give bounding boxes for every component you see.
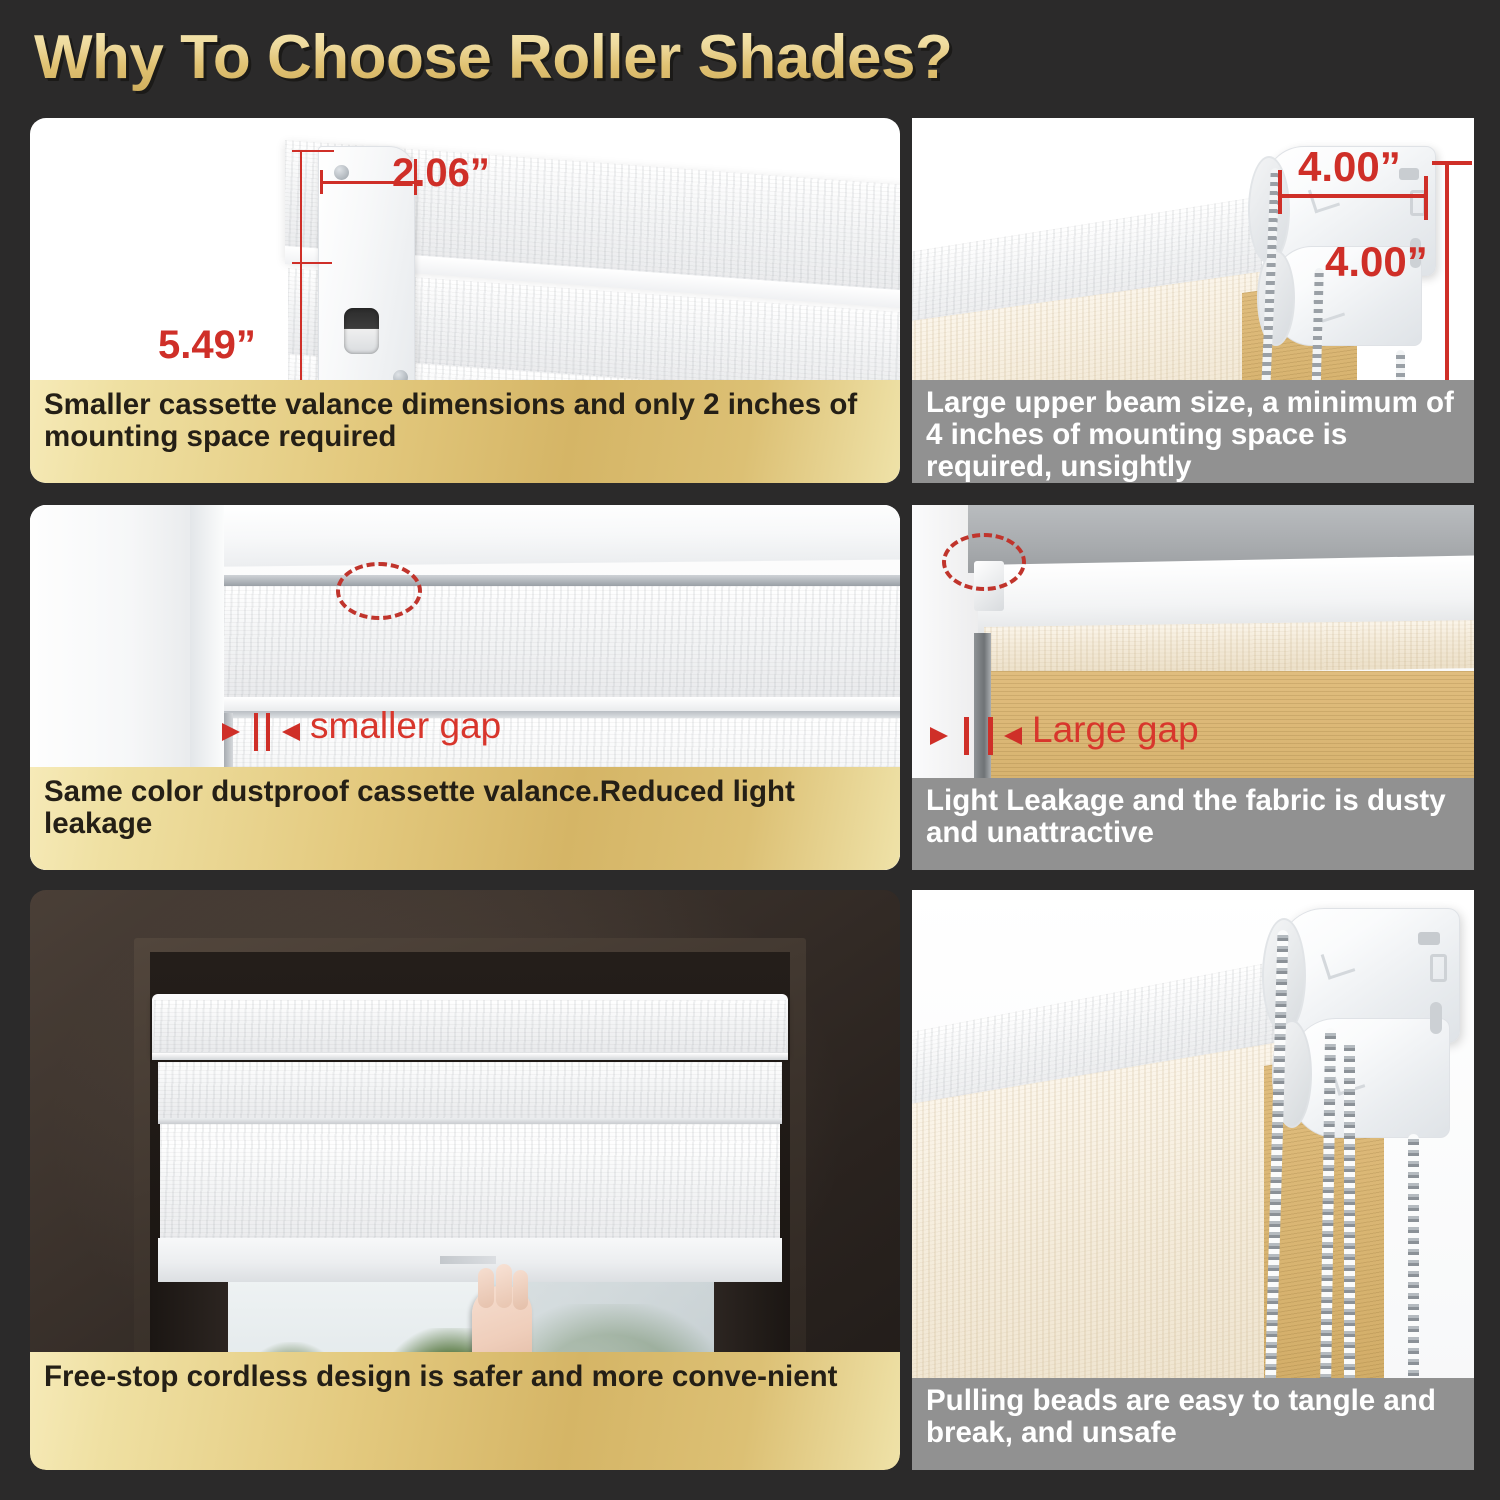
large-gap-arrow-left-icon [1004, 727, 1022, 745]
caption-cordless-design: Free-stop cordless design is safer and m… [30, 1352, 900, 1470]
dim-height-ext-upper [292, 262, 332, 264]
beam-dim-height-tick-top [1432, 161, 1472, 165]
caption-cassette-dimensions: Smaller cassette valance dimensions and … [30, 380, 900, 483]
beam-dim-height-line [1445, 161, 1449, 393]
dim-width-tick-left [320, 170, 323, 194]
cassette-headrail-face [154, 1000, 786, 1052]
gap-tick-b [266, 713, 270, 751]
pulling-bracket-lower [1290, 1018, 1450, 1138]
caption-large-gap: Light Leakage and the fabric is dusty an… [912, 778, 1474, 870]
roll-band [158, 1062, 782, 1120]
gap-arrow-right-icon-left [222, 723, 240, 741]
beam-dim-width-tick-left [1278, 170, 1282, 214]
panel-cordless-design: Free-stop cordless design is safer and m… [30, 890, 900, 1470]
panel-pulling-beads: Pulling beads are easy to tangle and bre… [912, 890, 1474, 1470]
large-gap-label: Large gap [1032, 709, 1199, 751]
pulling-bracket-slot-3 [1430, 1002, 1442, 1034]
gap-tick-a [254, 713, 258, 751]
bracket-slot-1 [1399, 168, 1419, 180]
beam-dim-width-label: 4.00” [1298, 143, 1401, 191]
gap-arrow-left-icon-right [282, 723, 300, 741]
hand-finger-2 [496, 1264, 512, 1308]
pulling-bracket-slot-1 [1418, 932, 1440, 945]
dim-height-tick-top [292, 150, 334, 152]
panel-large-upper-beam: 4.00” 4.00” Large upper beam size, a min… [912, 118, 1474, 483]
bottom-rail-logo [440, 1256, 496, 1264]
smaller-gap-label: smaller gap [310, 705, 501, 747]
panel-cassette-dimensions: 5.49” 2.06” Smaller cassette valance dim… [30, 118, 900, 483]
cap-clutch-window [344, 308, 379, 354]
panel-smaller-gap: smaller gap Same color dustproof cassett… [30, 505, 900, 870]
beam-dim-width-tick-right [1424, 176, 1428, 220]
cap-screw-top [334, 165, 349, 180]
dim-width-label: 2.06” [392, 151, 490, 196]
page-title: Why To Choose Roller Shades? [34, 22, 952, 93]
dim-height-label: 5.49” [158, 323, 256, 368]
large-gap-tick-a [964, 717, 969, 755]
hand-finger-3 [513, 1270, 528, 1310]
hand-finger-1 [478, 1268, 494, 1308]
caption-pulling-beads: Pulling beads are easy to tangle and bre… [912, 1378, 1474, 1470]
shade-fabric-main-2 [160, 1140, 780, 1250]
beam-dim-width-line [1280, 194, 1426, 198]
beam-dim-height-label: 4.00” [1325, 238, 1428, 286]
pulling-bracket-slot-2 [1430, 954, 1447, 982]
caption-large-upper-beam: Large upper beam size, a minimum of 4 in… [912, 380, 1474, 483]
large-gap-arrow-right-icon [930, 727, 948, 745]
large-gap-tick-b [988, 717, 993, 755]
panel-large-gap: Large gap Light Leakage and the fabric i… [912, 505, 1474, 870]
caption-smaller-gap: Same color dustproof cassette valance.Re… [30, 767, 900, 870]
headrail-seam [152, 1053, 788, 1060]
